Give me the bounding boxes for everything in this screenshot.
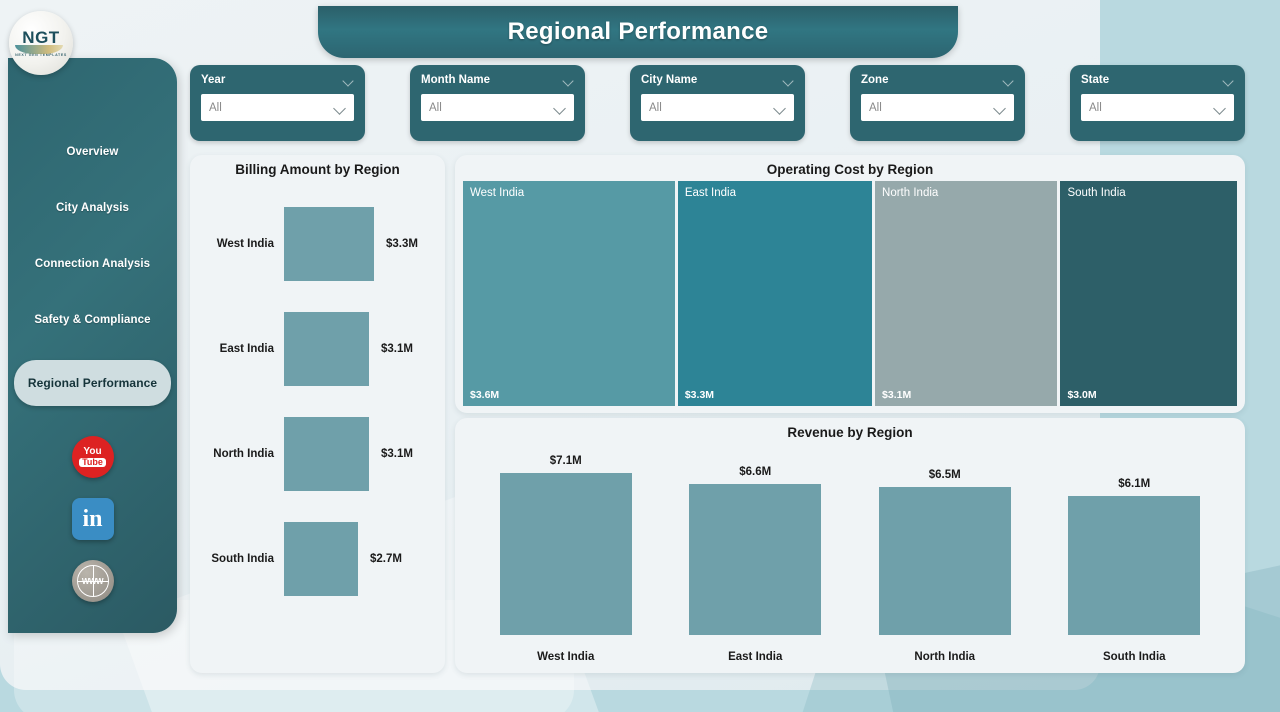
treemap-tile-value: $3.6M — [470, 389, 499, 401]
billing-value-label: $3.3M — [386, 238, 418, 250]
revenue-category-label: South India — [1067, 651, 1201, 663]
sidebar: OverviewCity AnalysisConnection Analysis… — [8, 58, 177, 633]
sidebar-item-city-analysis[interactable]: City Analysis — [8, 192, 177, 224]
filter-select-zone[interactable]: All — [861, 94, 1014, 121]
chevron-down-icon[interactable] — [784, 77, 794, 83]
revenue-value-label: $6.1M — [1118, 478, 1150, 490]
treemap-tile-label: East India — [685, 187, 736, 199]
chevron-down-icon[interactable] — [1224, 77, 1234, 83]
revenue-bar-column: $6.6M — [688, 446, 822, 635]
billing-bar-row: South India$2.7M — [190, 506, 445, 611]
sidebar-item-label: Regional Performance — [28, 376, 157, 390]
filter-value: All — [1089, 102, 1102, 114]
treemap-tile[interactable]: East India$3.3M — [678, 181, 872, 406]
treemap-tile-value: $3.0M — [1067, 389, 1096, 401]
filter-zone[interactable]: ZoneAll — [850, 65, 1025, 141]
filter-select-year[interactable]: All — [201, 94, 354, 121]
filter-value: All — [649, 102, 662, 114]
filter-value: All — [429, 102, 442, 114]
filter-header: Year — [201, 74, 354, 86]
filter-header: Month Name — [421, 74, 574, 86]
sidebar-item-label: City Analysis — [56, 202, 129, 214]
revenue-bar-column: $7.1M — [499, 446, 633, 635]
filter-header: Zone — [861, 74, 1014, 86]
youtube-icon-top: You — [83, 447, 101, 457]
billing-category-label: North India — [200, 448, 284, 460]
revenue-card: Revenue by Region $7.1M$6.6M$6.5M$6.1M W… — [455, 418, 1245, 673]
operating-cost-title: Operating Cost by Region — [455, 155, 1245, 177]
filter-state[interactable]: StateAll — [1070, 65, 1245, 141]
billing-amount-card: Billing Amount by Region West India$3.3M… — [190, 155, 445, 673]
filter-label: Year — [201, 74, 225, 86]
linkedin-icon[interactable]: in — [72, 498, 114, 540]
billing-amount-title: Billing Amount by Region — [190, 155, 445, 177]
filter-label: State — [1081, 74, 1109, 86]
billing-value-label: $2.7M — [370, 553, 402, 565]
chevron-down-icon[interactable] — [564, 77, 574, 83]
revenue-bar[interactable] — [689, 484, 821, 635]
operating-cost-treemap: West India$3.6MEast India$3.3MNorth Indi… — [463, 181, 1237, 406]
filter-select-city-name[interactable]: All — [641, 94, 794, 121]
sidebar-item-regional-performance[interactable]: Regional Performance — [14, 360, 171, 406]
sidebar-item-safety-compliance[interactable]: Safety & Compliance — [8, 304, 177, 336]
filter-label: Month Name — [421, 74, 490, 86]
revenue-title: Revenue by Region — [455, 418, 1245, 440]
revenue-bar[interactable] — [879, 487, 1011, 635]
sidebar-item-label: Overview — [67, 146, 119, 158]
website-icon-label: WWW — [82, 577, 103, 586]
billing-value-label: $3.1M — [381, 343, 413, 355]
brand-logo: NGT NEXT GEN TEMPLATES — [9, 11, 73, 75]
billing-bar[interactable] — [284, 312, 369, 386]
revenue-value-label: $6.6M — [739, 466, 771, 478]
page-title: Regional Performance — [508, 18, 769, 46]
linkedin-icon-label: in — [82, 506, 102, 533]
treemap-tile[interactable]: North India$3.1M — [875, 181, 1057, 406]
chevron-down-icon[interactable] — [1214, 104, 1226, 111]
chevron-down-icon[interactable] — [344, 77, 354, 83]
treemap-tile-value: $3.1M — [882, 389, 911, 401]
treemap-tile[interactable]: South India$3.0M — [1060, 181, 1237, 406]
sidebar-nav: OverviewCity AnalysisConnection Analysis… — [8, 58, 177, 430]
filter-month-name[interactable]: Month NameAll — [410, 65, 585, 141]
treemap-tile-label: West India — [470, 187, 524, 199]
dashboard-page: OverviewCity AnalysisConnection Analysis… — [0, 0, 1280, 712]
filter-city-name[interactable]: City NameAll — [630, 65, 805, 141]
revenue-bar[interactable] — [1068, 496, 1200, 635]
billing-bar-row: North India$3.1M — [190, 401, 445, 506]
operating-cost-card: Operating Cost by Region West India$3.6M… — [455, 155, 1245, 413]
filter-select-state[interactable]: All — [1081, 94, 1234, 121]
revenue-value-label: $7.1M — [550, 455, 582, 467]
sidebar-item-label: Connection Analysis — [35, 258, 150, 270]
chevron-down-icon[interactable] — [1004, 77, 1014, 83]
treemap-tile-value: $3.3M — [685, 389, 714, 401]
sidebar-item-overview[interactable]: Overview — [8, 136, 177, 168]
chevron-down-icon[interactable] — [994, 104, 1006, 111]
youtube-icon[interactable]: You Tube — [72, 436, 114, 478]
chevron-down-icon[interactable] — [334, 104, 346, 111]
revenue-bar[interactable] — [500, 473, 632, 635]
filter-header: State — [1081, 74, 1234, 86]
billing-category-label: East India — [200, 343, 284, 355]
billing-bar-row: West India$3.3M — [190, 191, 445, 296]
billing-category-label: West India — [200, 238, 284, 250]
website-globe-icon[interactable]: WWW — [72, 560, 114, 602]
sidebar-item-connection-analysis[interactable]: Connection Analysis — [8, 248, 177, 280]
billing-bar[interactable] — [284, 207, 374, 281]
filter-label: Zone — [861, 74, 888, 86]
revenue-bar-column: $6.1M — [1067, 446, 1201, 635]
revenue-chart: $7.1M$6.6M$6.5M$6.1M — [471, 446, 1229, 635]
filter-header: City Name — [641, 74, 794, 86]
billing-category-label: South India — [200, 553, 284, 565]
revenue-category-label: West India — [499, 651, 633, 663]
filter-year[interactable]: YearAll — [190, 65, 365, 141]
treemap-tile[interactable]: West India$3.6M — [463, 181, 675, 406]
sidebar-item-label: Safety & Compliance — [34, 314, 150, 326]
billing-amount-chart: West India$3.3MEast India$3.1MNorth Indi… — [190, 177, 445, 647]
chevron-down-icon[interactable] — [554, 104, 566, 111]
page-header: Regional Performance — [318, 6, 958, 58]
billing-bar[interactable] — [284, 522, 358, 596]
filter-value: All — [209, 102, 222, 114]
treemap-tile-label: North India — [882, 187, 938, 199]
filter-bar: YearAllMonth NameAllCity NameAllZoneAllS… — [190, 65, 1245, 141]
chevron-down-icon[interactable] — [774, 104, 786, 111]
billing-bar-row: East India$3.1M — [190, 296, 445, 401]
billing-value-label: $3.1M — [381, 448, 413, 460]
revenue-bar-column: $6.5M — [878, 446, 1012, 635]
revenue-x-axis: West IndiaEast IndiaNorth IndiaSouth Ind… — [471, 651, 1229, 663]
filter-value: All — [869, 102, 882, 114]
revenue-category-label: East India — [688, 651, 822, 663]
billing-bar[interactable] — [284, 417, 369, 491]
revenue-category-label: North India — [878, 651, 1012, 663]
revenue-value-label: $6.5M — [929, 469, 961, 481]
brand-logo-text: NGT — [22, 29, 59, 46]
filter-select-month-name[interactable]: All — [421, 94, 574, 121]
youtube-icon-bottom: Tube — [79, 458, 106, 467]
sidebar-social-links: You Tube in WWW — [8, 436, 177, 602]
treemap-tile-label: South India — [1067, 187, 1125, 199]
filter-label: City Name — [641, 74, 697, 86]
